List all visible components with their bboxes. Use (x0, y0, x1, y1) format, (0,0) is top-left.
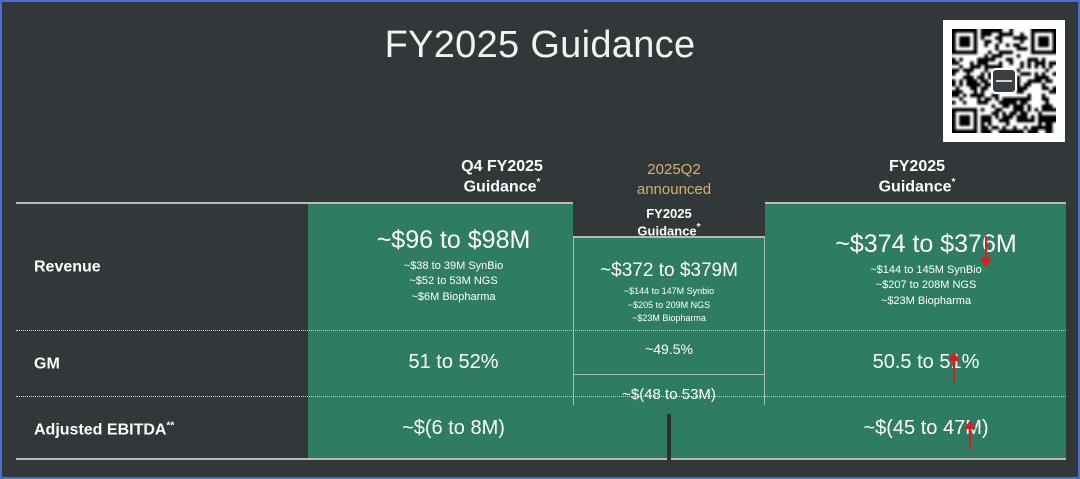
guidance-table: Revenue ~$96 to $98M ~$38 to 39M SynBio … (16, 202, 1066, 460)
arrow-head (980, 258, 992, 267)
arrow-shaft (969, 428, 971, 450)
row-label-gm: GM (34, 354, 60, 373)
footnote-marker: * (697, 222, 701, 233)
column-header-announced-line1: 2025Q2 (579, 160, 769, 180)
overlay-pointer-tick (667, 414, 671, 460)
cell-fy-revenue-details: ~$144 to 145M SynBio ~$207 to 208M NGS ~… (786, 263, 1066, 310)
table-row: Adjusted EBITDA** ~$(6 to 8M) ~$(45 to 4… (16, 396, 1066, 462)
cell-fy-revenue: ~$374 to $376M ~$144 to 145M SynBio ~$20… (786, 230, 1066, 310)
arrow-shaft (985, 236, 987, 258)
qr-center-logo-mark (996, 80, 1012, 82)
page-title: FY2025 Guidance (2, 24, 1078, 67)
footnote-marker: * (537, 177, 541, 188)
overlay-cell-revenue-details: ~$144 to 147M Synbio ~$205 to 209M NGS ~… (573, 285, 765, 326)
cell-q4-adjusted-ebitda-value: ~$(6 to 8M) (316, 417, 591, 440)
overlay-cell-adjusted-ebitda: ~$(48 to 53M) (573, 375, 765, 417)
cell-fy-gm-value: 50.5 to 51% (786, 351, 1066, 374)
overlay-cell-revenue-value: ~$372 to $379M (573, 260, 765, 282)
row-label-revenue: Revenue (34, 257, 101, 276)
trend-arrow-up-icon (964, 420, 976, 450)
overlay-cell-gm-value: ~49.5% (645, 341, 693, 357)
cell-fy-adjusted-ebitda: ~$(45 to 47M) (786, 417, 1066, 440)
cell-q4-adjusted-ebitda: ~$(6 to 8M) (316, 417, 591, 440)
cell-q4-revenue-details: ~$38 to 39M SynBio ~$52 to 53M NGS ~$6M … (316, 259, 591, 306)
slide: FY2025 Guidance Q4 FY2025 Guidance* 2025… (0, 0, 1080, 479)
trend-arrow-up-icon (948, 352, 960, 382)
overlay-header-line1: FY2025 (573, 206, 765, 222)
overlay-divider-left (573, 238, 574, 405)
overlay-cell-adjusted-ebitda-value: ~$(48 to 53M) (622, 386, 716, 403)
cell-q4-gm: 51 to 52% (316, 351, 591, 374)
overlay-header: FY2025 Guidance* (573, 202, 765, 238)
overlay-cell-revenue: ~$372 to $379M ~$144 to 147M Synbio ~$20… (573, 238, 765, 328)
cell-fy-gm: 50.5 to 51% (786, 351, 1066, 374)
column-header-announced: 2025Q2 announced (579, 160, 769, 199)
footnote-marker: ** (166, 420, 174, 431)
cell-fy-revenue-value: ~$374 to $376M (786, 230, 1066, 259)
column-header-fy-line2: Guidance* (777, 177, 1057, 198)
overlay-cell-gm: ~49.5% (573, 328, 765, 375)
qr-center-logo-icon (991, 68, 1017, 94)
cell-q4-gm-value: 51 to 52% (316, 351, 591, 374)
row-label-adjusted-ebitda: Adjusted EBITDA** (34, 420, 174, 439)
cell-q4-revenue: ~$96 to $98M ~$38 to 39M SynBio ~$52 to … (316, 226, 591, 306)
table-row: Revenue ~$96 to $98M ~$38 to 39M SynBio … (16, 204, 1066, 330)
arrow-shaft (953, 360, 955, 382)
trend-arrow-down-icon (980, 236, 992, 267)
column-header-announced-line2: announced (579, 180, 769, 200)
qr-code[interactable] (943, 20, 1065, 142)
overlay-divider-right (764, 238, 765, 405)
column-header-fy: FY2025 Guidance* (777, 157, 1057, 198)
announced-guidance-overlay: FY2025 Guidance* ~$372 to $379M ~$144 to… (573, 202, 765, 438)
table-row: GM 51 to 52% 50.5 to 51% (16, 330, 1066, 396)
footnote-marker: * (952, 177, 956, 188)
cell-q4-revenue-value: ~$96 to $98M (316, 226, 591, 255)
column-header-fy-line1: FY2025 (777, 157, 1057, 177)
cell-fy-adjusted-ebitda-value: ~$(45 to 47M) (786, 417, 1066, 440)
